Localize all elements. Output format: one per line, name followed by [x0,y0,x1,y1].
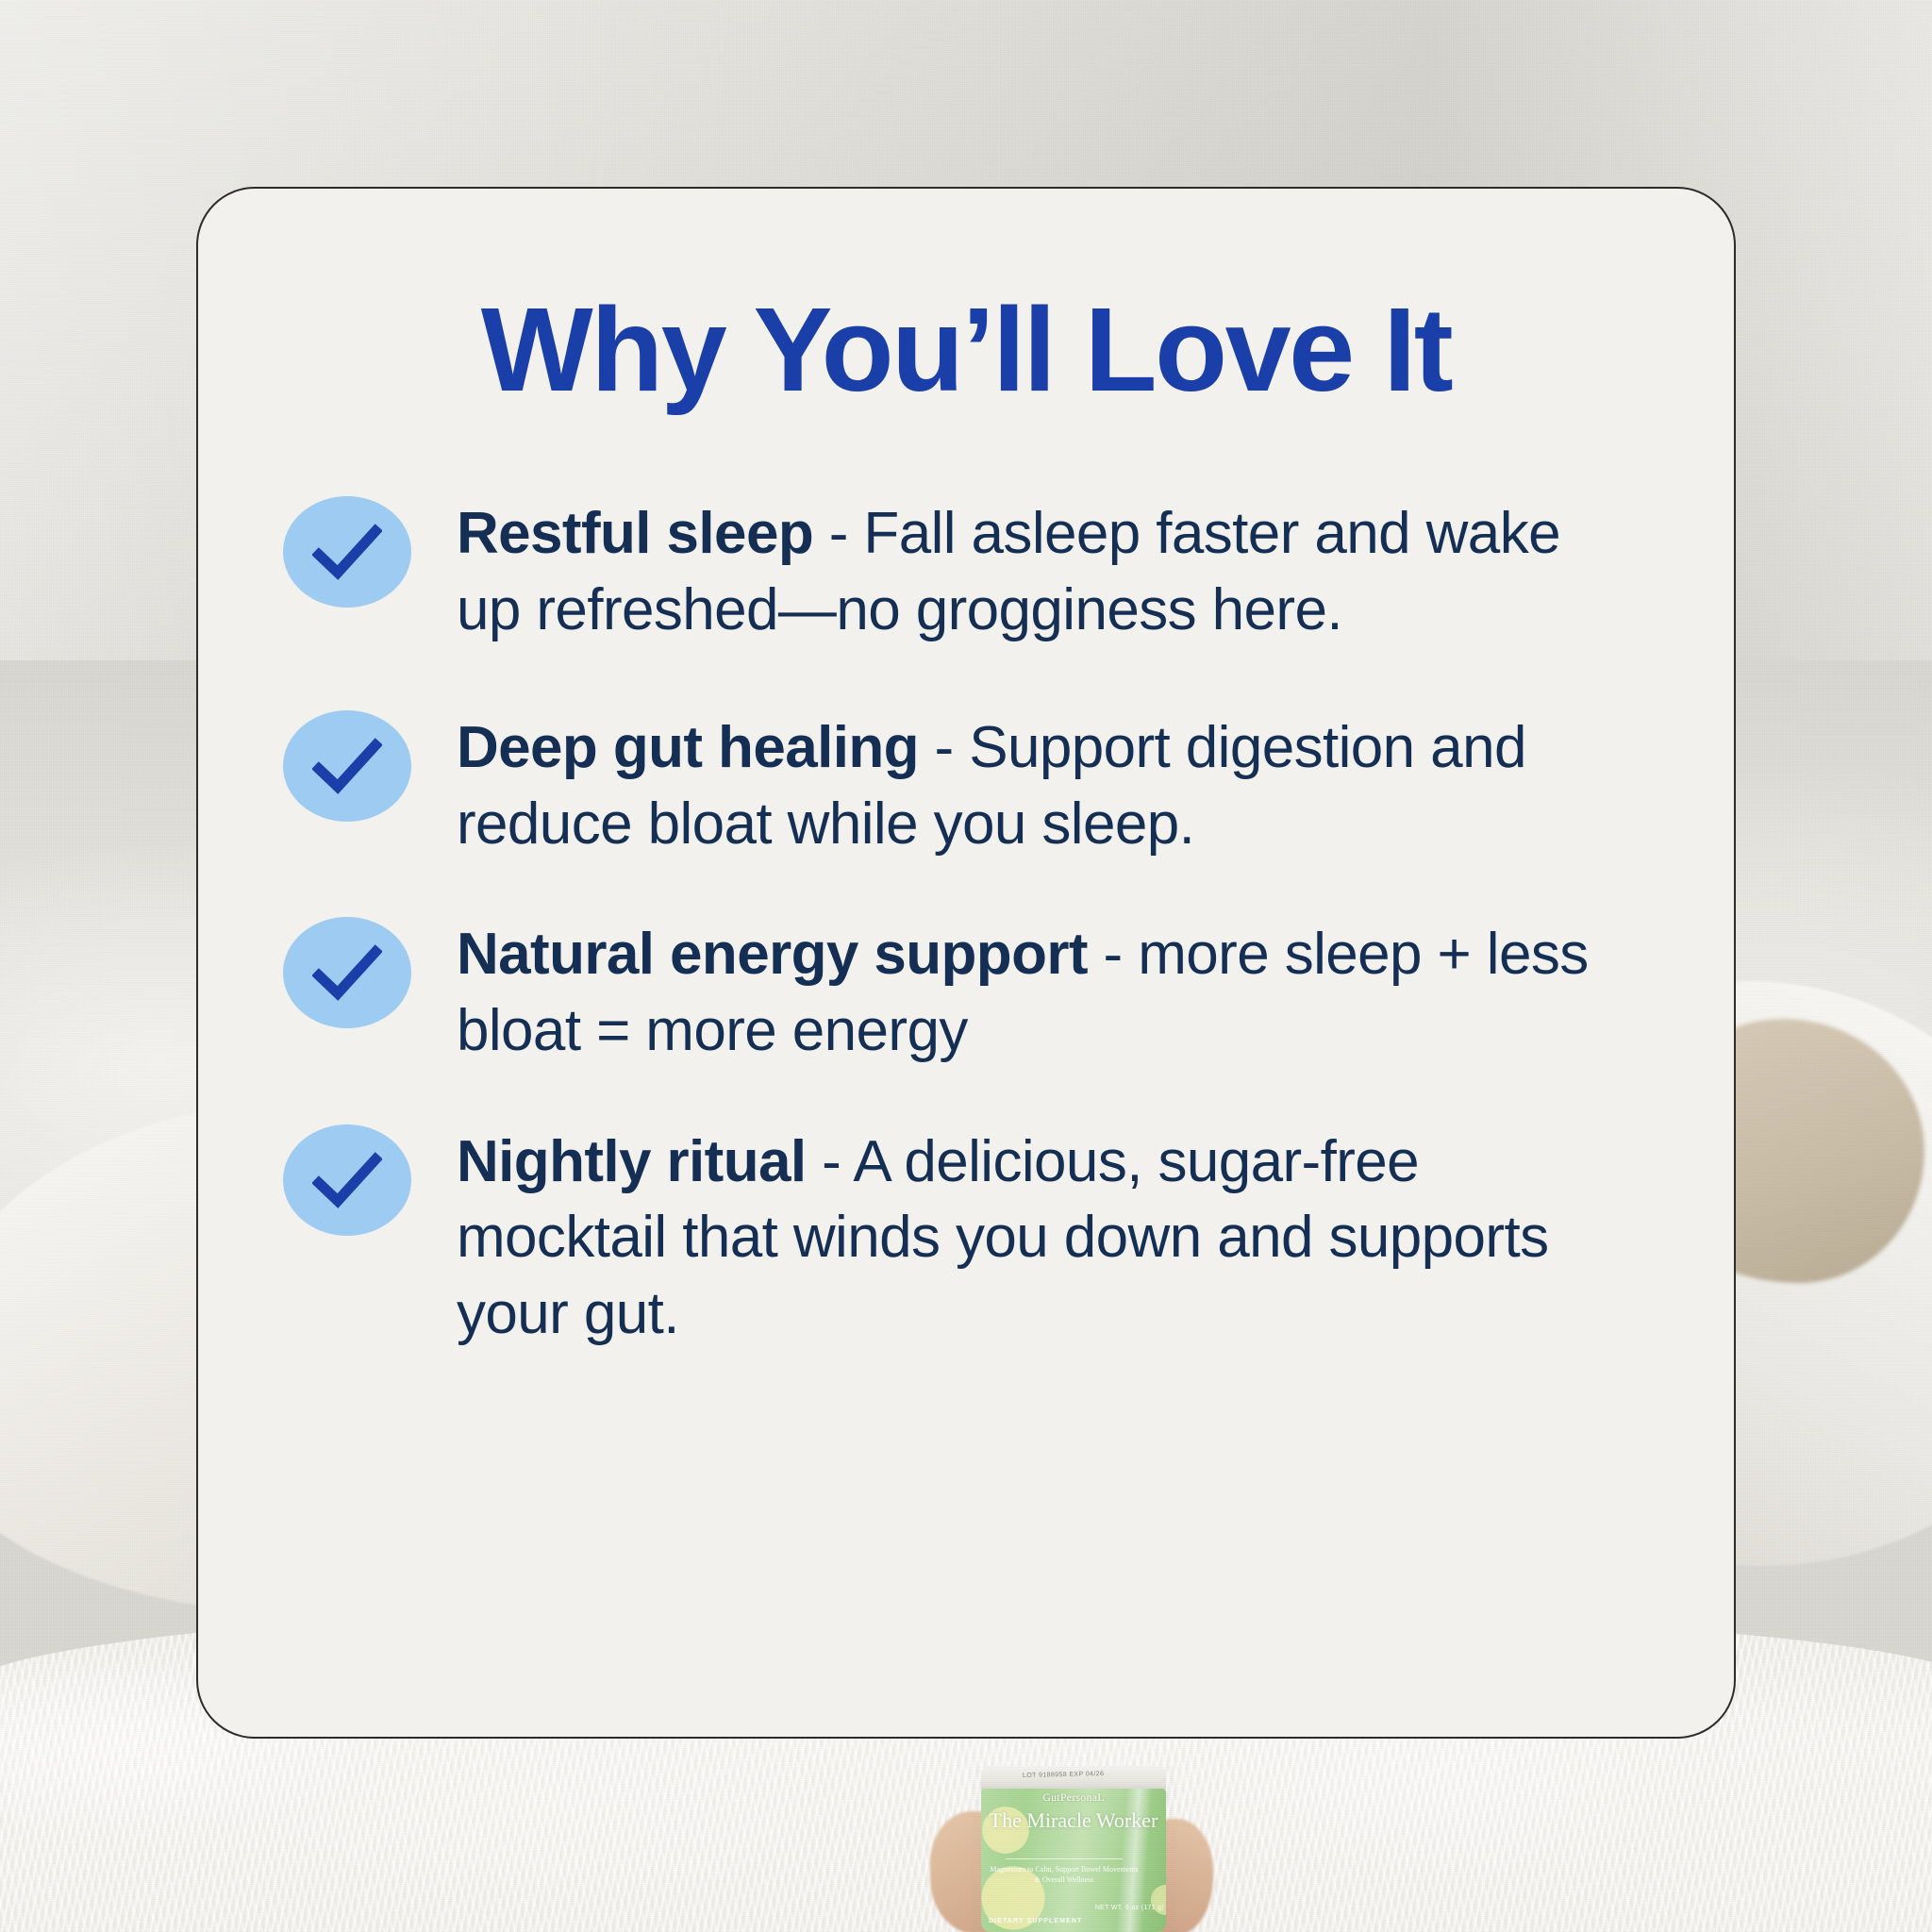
benefit-separator: - [1088,922,1138,987]
jar-net-weight: NET WT. 6 oz (171 g) [1095,1905,1164,1911]
content-card: Why You’ll Love It Restful sleep - Fall … [196,187,1736,1739]
check-icon [283,1124,411,1236]
benefit-lead: Deep gut healing [457,715,919,780]
benefit-item: Deep gut healing - Support digestion and… [283,708,1662,862]
jar-divider [1006,1858,1123,1859]
jar-description: Magnesium to Calm, Support Bowel Movemen… [989,1864,1140,1885]
benefit-lead: Natural energy support [457,922,1088,987]
product-jar: LOT 9188958 EXP 04/26 GutPersonaL The Mi… [972,1766,1175,1932]
benefit-lead: Nightly ritual [457,1129,807,1194]
benefit-separator: - [813,501,863,566]
check-icon [283,917,411,1028]
benefit-separator: - [807,1129,854,1194]
benefit-lead: Restful sleep [457,501,813,566]
jar-label: GutPersonaL The Miracle Worker Magnesium… [972,1766,1175,1932]
benefit-item: Nightly ritual - A delicious, sugar-free… [283,1123,1662,1353]
check-icon [283,496,411,608]
benefit-text: Restful sleep - Fall asleep faster and w… [457,494,1598,648]
benefit-text: Deep gut healing - Support digestion and… [457,708,1598,862]
benefit-item: Restful sleep - Fall asleep faster and w… [283,494,1662,648]
page-title: Why You’ll Love It [258,291,1674,409]
benefit-separator: - [919,715,969,780]
jar-product-name: The Miracle Worker [972,1809,1175,1832]
benefit-item: Natural energy support - more sleep + le… [283,915,1662,1069]
jar-supplement-label: DIETARY SUPPLEMENT [989,1918,1082,1924]
benefits-list: Restful sleep - Fall asleep faster and w… [258,494,1674,1352]
benefit-text: Nightly ritual - A delicious, sugar-free… [457,1123,1598,1353]
check-icon [283,710,411,822]
benefit-text: Natural energy support - more sleep + le… [457,915,1598,1069]
jar-brand-name: GutPersonaL [972,1790,1175,1805]
